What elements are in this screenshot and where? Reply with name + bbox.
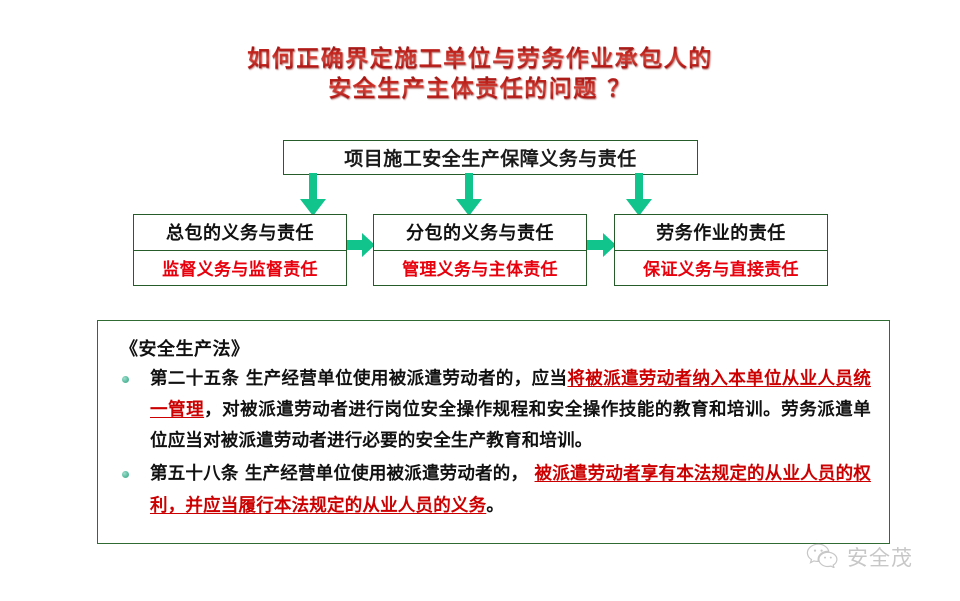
law-item: 第二十五条 生产经营单位使用被派遣劳动者的，应当将被派遣劳动者纳入本单位从业人员… — [118, 364, 871, 457]
law-item-2-text: 第五十八条 生产经营单位使用被派遣劳动者的， 被派遣劳动者享有本法规定的从业人员… — [150, 459, 871, 521]
bullet-icon — [122, 471, 129, 478]
law-item: 第五十八条 生产经营单位使用被派遣劳动者的， 被派遣劳动者享有本法规定的从业人员… — [118, 459, 871, 521]
bullet-icon — [122, 376, 129, 383]
flowchart-node-subcontractor: 分包的义务与责任 管理义务与主体责任 — [373, 214, 587, 286]
wechat-icon — [806, 542, 840, 572]
watermark-label: 安全茂 — [847, 542, 913, 572]
flowchart-node-3-detail: 保证义务与直接责任 — [643, 255, 799, 280]
plain-clause: 。 — [486, 496, 504, 516]
flowchart-node-1-detail-row: 监督义务与监督责任 — [134, 251, 346, 286]
law-item-1-text: 第二十五条 生产经营单位使用被派遣劳动者的，应当将被派遣劳动者纳入本单位从业人员… — [150, 364, 871, 457]
page-title-line-2: 安全生产主体责任的问题 ？ — [0, 74, 960, 104]
plain-clause: 第二十五条 生产经营单位使用被派遣劳动者的，应当 — [150, 369, 567, 389]
flowchart-root-label: 项目施工安全生产保障义务与责任 — [344, 144, 637, 171]
law-title: 《安全生产法》 — [120, 335, 871, 361]
flowchart-node-3-detail-row: 保证义务与直接责任 — [615, 251, 827, 286]
flowchart-node-1-detail: 监督义务与监督责任 — [162, 255, 318, 280]
flowchart-node-1-heading-row: 总包的义务与责任 — [134, 215, 346, 251]
arrow-right-sub-to-labor — [585, 232, 617, 262]
flowchart-root-box: 项目施工安全生产保障义务与责任 — [283, 140, 698, 175]
plain-clause: 第五十八条 生产经营单位使用被派遣劳动者的， — [150, 464, 535, 484]
law-citation-box: 《安全生产法》 第二十五条 生产经营单位使用被派遣劳动者的，应当将被派遣劳动者纳… — [97, 320, 890, 544]
flowchart-node-2-detail: 管理义务与主体责任 — [402, 255, 558, 280]
flowchart-node-labor-service: 劳务作业的责任 保证义务与直接责任 — [614, 214, 828, 286]
page-title-line-1: 如何正确界定施工单位与劳务作业承包人的 — [0, 44, 960, 74]
flowchart-node-1-heading: 总包的义务与责任 — [166, 219, 314, 245]
flowchart-node-3-heading: 劳务作业的责任 — [656, 219, 786, 245]
flowchart-node-3-heading-row: 劳务作业的责任 — [615, 215, 827, 251]
plain-clause: ，对被派遣劳动者进行岗位安全操作规程和安全操作技能的教育和培训。劳务派遣单位应当… — [150, 400, 871, 451]
arrow-right-general-to-sub — [344, 232, 376, 262]
flowchart-node-2-heading: 分包的义务与责任 — [406, 219, 554, 245]
page-title: 如何正确界定施工单位与劳务作业承包人的 安全生产主体责任的问题 ？ — [0, 44, 960, 105]
watermark: 安全茂 — [806, 542, 913, 572]
flowchart-node-general-contractor: 总包的义务与责任 监督义务与监督责任 — [133, 214, 347, 286]
flowchart-node-2-detail-row: 管理义务与主体责任 — [374, 251, 586, 286]
flowchart-node-2-heading-row: 分包的义务与责任 — [374, 215, 586, 251]
